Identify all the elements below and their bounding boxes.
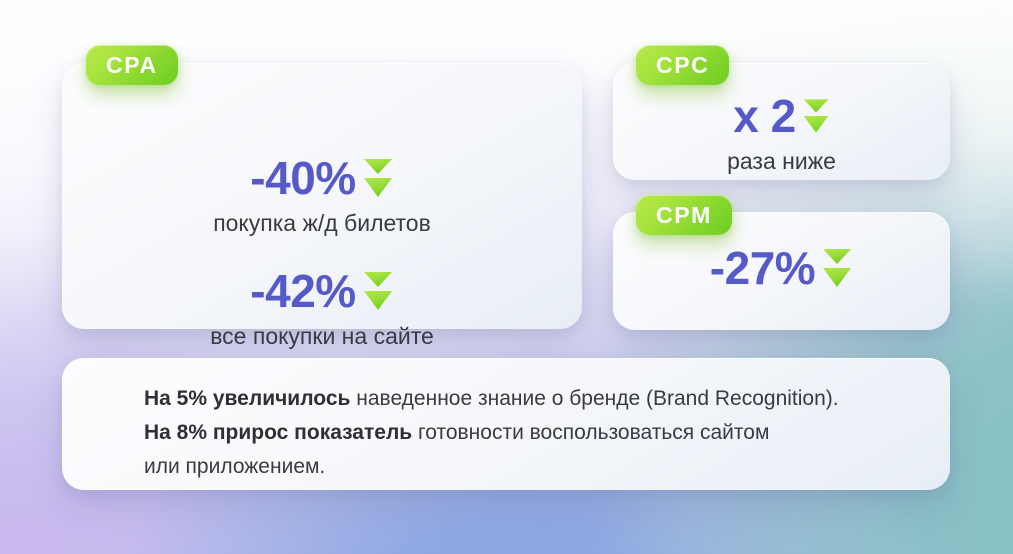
- metric-value-row: x 2: [613, 93, 950, 139]
- metric-value-cpc: x 2: [733, 93, 795, 139]
- double-down-arrow-icon: [362, 269, 394, 313]
- brand-line-2-bold: На 8% прирос показатель: [144, 421, 412, 444]
- metric-value-row: -27%: [613, 245, 950, 291]
- metric-value-row: -40%: [62, 155, 582, 201]
- metric-value-cpm: -27%: [710, 245, 815, 291]
- metric-label-cpc: раза ниже: [613, 148, 950, 176]
- metric-card-cpa: -40% покупка ж: [62, 63, 582, 329]
- brand-line-1-rest: наведенное знание о бренде (Brand Recogn…: [350, 387, 838, 410]
- brand-line-3: или приложением.: [144, 450, 920, 484]
- metric-value-cpa-2: -42%: [250, 268, 355, 314]
- metric-cpc-times-lower: x 2 раза ниже: [613, 93, 950, 176]
- metric-label-cpa-2: все покупки на сайте: [62, 323, 582, 351]
- metric-cpa-all-purchases: -42% все покуп: [62, 268, 582, 351]
- brand-line-3-rest: или приложением.: [144, 455, 325, 478]
- metric-value-cpa-1: -40%: [250, 155, 355, 201]
- metric-label-cpa-1: покупка ж/д билетов: [62, 210, 582, 238]
- brand-line-2-rest: готовности воспользоваться сайтом: [412, 421, 769, 444]
- double-down-arrow-icon: [802, 96, 830, 136]
- badge-cpa: CPA: [86, 45, 178, 85]
- badge-cpa-label: CPA: [106, 54, 158, 77]
- badge-cpm: CPM: [636, 195, 732, 235]
- metric-cpm-reduction: -27%: [613, 245, 950, 291]
- double-down-arrow-icon: [821, 246, 853, 290]
- badge-cpc-label: CPC: [656, 54, 709, 77]
- metric-value-row: -42%: [62, 268, 582, 314]
- brand-recognition-card: На 5% увеличилось наведенное знание о бр…: [62, 358, 950, 490]
- double-down-arrow-icon: [362, 156, 394, 200]
- metric-cpa-rail-tickets: -40% покупка ж: [62, 155, 582, 238]
- brand-line-2: На 8% прирос показатель готовности воспо…: [144, 416, 920, 450]
- badge-cpc: CPC: [636, 45, 729, 85]
- brand-recognition-text: На 5% увеличилось наведенное знание о бр…: [144, 382, 920, 484]
- brand-line-1: На 5% увеличилось наведенное знание о бр…: [144, 382, 920, 416]
- infographic-canvas: -40% покупка ж: [0, 0, 1013, 554]
- brand-line-1-bold: На 5% увеличилось: [144, 387, 350, 410]
- badge-cpm-label: CPM: [656, 204, 712, 227]
